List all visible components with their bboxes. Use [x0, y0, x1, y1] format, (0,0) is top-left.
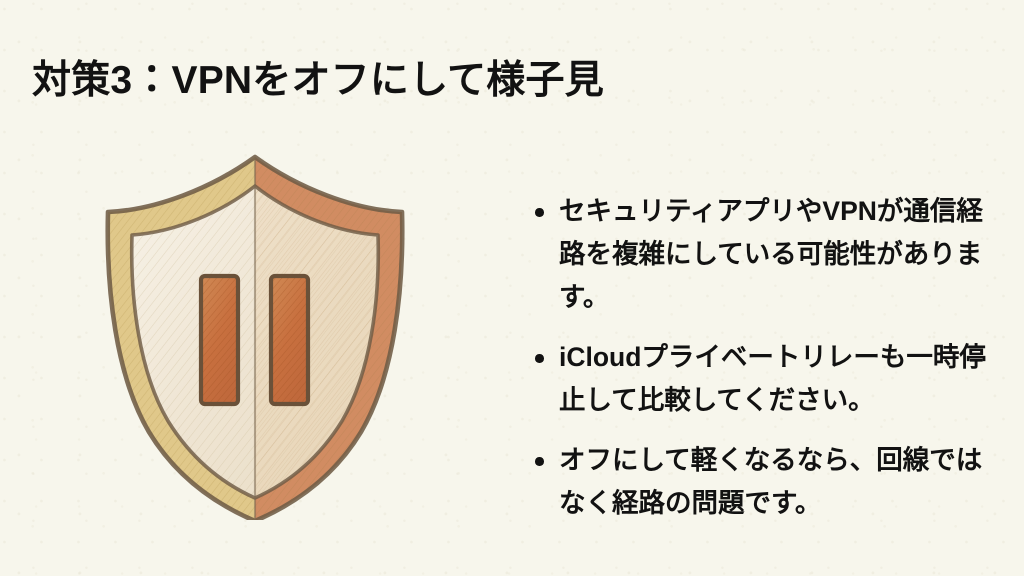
bullet-item: オフにして軽くなるなら、回線ではなく経路の問題です。 [530, 439, 1000, 525]
bullet-marker-icon [535, 457, 544, 466]
shield-icon [84, 140, 434, 520]
shield-illustration [84, 140, 434, 520]
bullet-text: iCloudプライベートリレーも一時停止して比較してください。 [559, 342, 986, 415]
pause-bar-left [201, 276, 238, 404]
bullet-text: セキュリティアプリやVPNが通信経路を複雑にしている可能性があります。 [559, 196, 983, 312]
slide-canvas: 対策3：VPNをオフにして様子見 [0, 0, 1024, 576]
bullet-marker-icon [535, 354, 544, 363]
bullet-text: オフにして軽くなるなら、回線ではなく経路の問題です。 [559, 445, 982, 518]
page-title: 対策3：VPNをオフにして様子見 [32, 57, 972, 105]
bullet-item: セキュリティアプリやVPNが通信経路を複雑にしている可能性があります。 [530, 190, 1000, 319]
bullet-marker-icon [535, 208, 544, 217]
bullet-list: セキュリティアプリやVPNが通信経路を複雑にしている可能性があります。 iClo… [530, 190, 1000, 525]
pause-bar-right [271, 276, 308, 404]
bullet-item: iCloudプライベートリレーも一時停止して比較してください。 [530, 336, 1000, 422]
